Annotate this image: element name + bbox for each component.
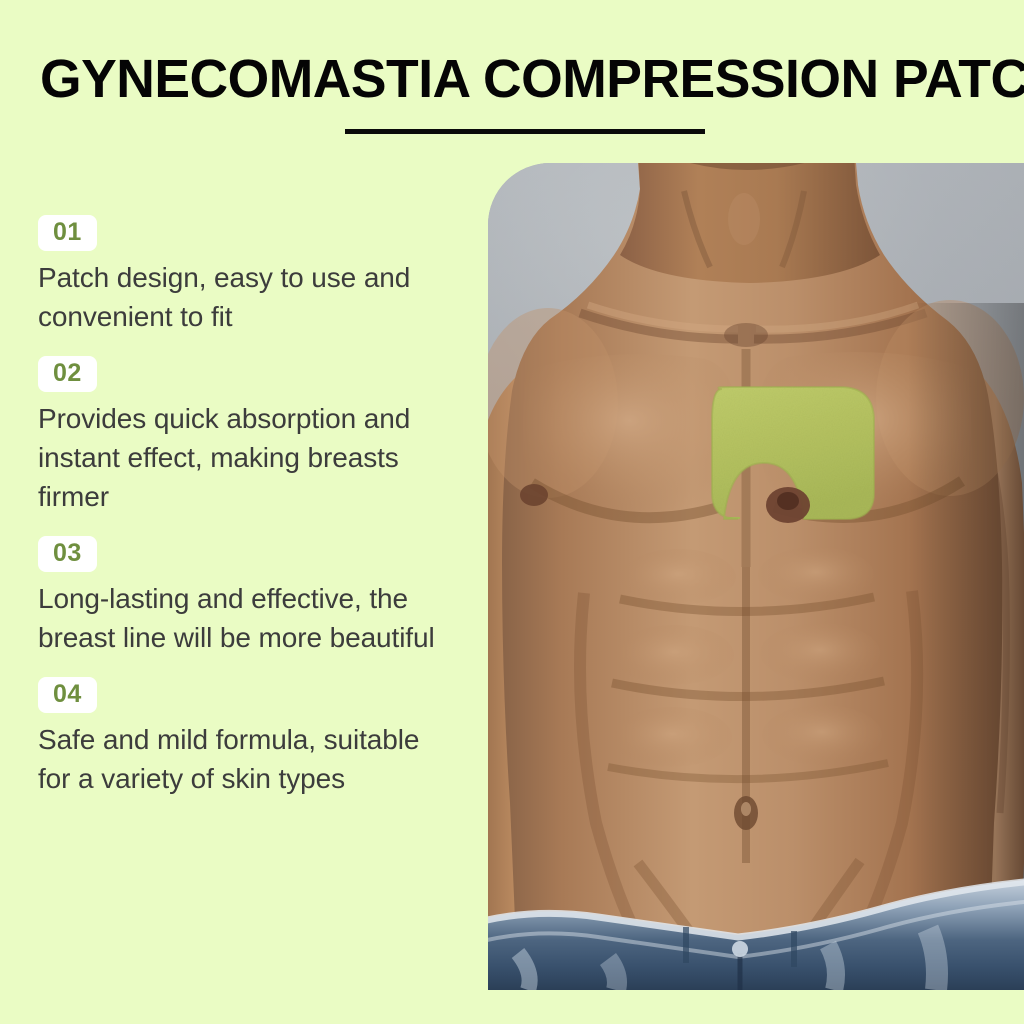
feature-item-03: 03 Long-lasting and effective, the breas… xyxy=(0,536,470,657)
ab-block-2l xyxy=(614,625,734,685)
feature-badge-02: 02 xyxy=(38,356,97,392)
feature-badge-01: 01 xyxy=(38,215,97,251)
jeans-button xyxy=(732,941,748,957)
infographic-page: GYNECOMASTIA COMPRESSION PATCH 01 Patch … xyxy=(0,0,1024,1024)
throat-highlight xyxy=(728,193,760,245)
denim-wash-2 xyxy=(608,959,617,990)
title-underline-rule xyxy=(345,129,705,134)
feature-text-03: Long-lasting and effective, the breast l… xyxy=(38,579,438,657)
ab-block-3r xyxy=(762,705,882,765)
feature-item-01: 01 Patch design, easy to use and conveni… xyxy=(0,215,470,336)
feature-text-04: Safe and mild formula, suitable for a va… xyxy=(38,720,438,798)
feature-badge-03: 03 xyxy=(38,536,97,572)
male-torso-illustration xyxy=(488,163,1024,990)
sternal-notch xyxy=(724,323,768,347)
denim-wash-4 xyxy=(928,929,937,990)
navel-highlight xyxy=(741,802,751,816)
feature-badge-04: 04 xyxy=(38,677,97,713)
product-photo-panel xyxy=(488,163,1024,990)
feature-text-01: Patch design, easy to use and convenient… xyxy=(38,258,438,336)
ab-block-1r xyxy=(758,547,874,603)
feature-list: 01 Patch design, easy to use and conveni… xyxy=(0,215,470,804)
feature-text-02: Provides quick absorption and instant ef… xyxy=(38,399,438,516)
feature-item-04: 04 Safe and mild formula, suitable for a… xyxy=(0,677,470,798)
ab-block-1l xyxy=(620,549,736,605)
feature-item-02: 02 Provides quick absorption and instant… xyxy=(0,356,470,516)
denim-wash-3 xyxy=(828,945,836,990)
ab-block-2r xyxy=(760,623,880,683)
nipple-left xyxy=(520,484,548,506)
page-title: GYNECOMASTIA COMPRESSION PATCH xyxy=(40,50,990,108)
ab-block-3l xyxy=(612,707,732,767)
